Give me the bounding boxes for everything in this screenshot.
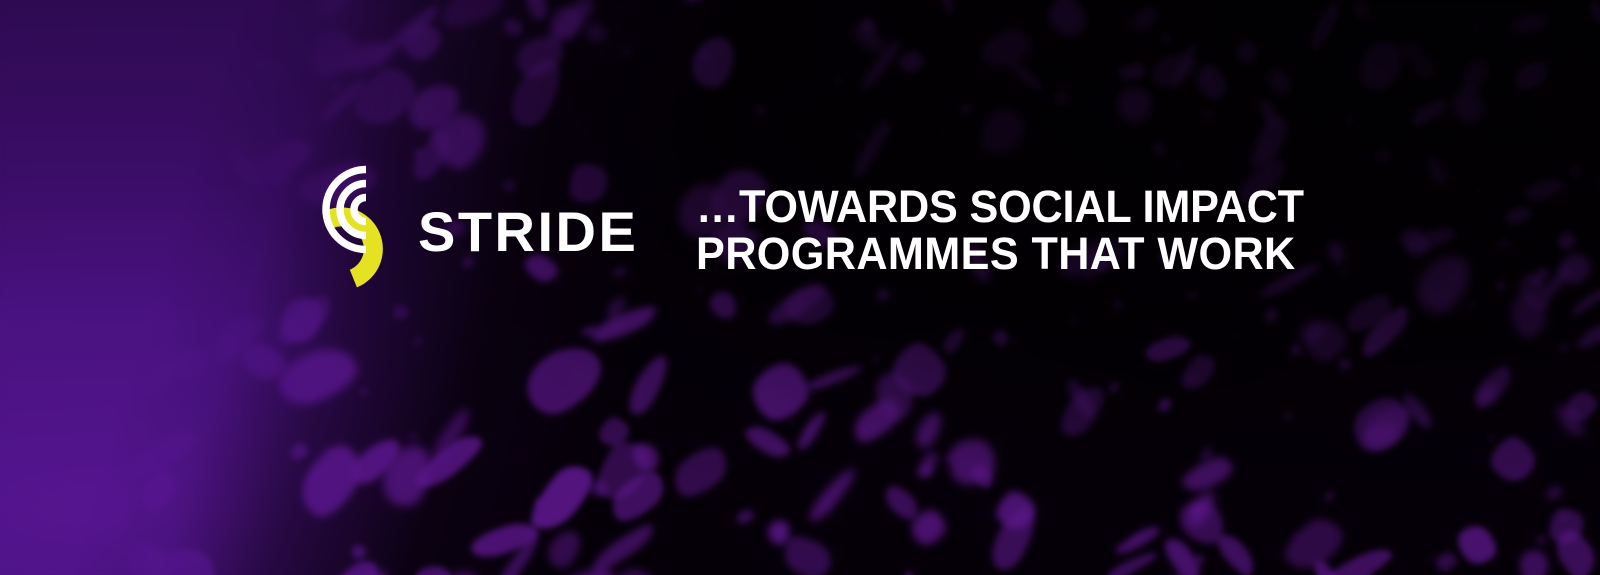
tagline-line-1: …TOWARDS SOCIAL IMPACT [696,184,1304,231]
banner-tagline: …TOWARDS SOCIAL IMPACT PROGRAMMES THAT W… [696,184,1304,278]
brand-wordmark: STRIDE [418,204,638,260]
stride-banner: STRIDE …TOWARDS SOCIAL IMPACT PROGRAMMES… [0,0,1600,575]
banner-content: STRIDE …TOWARDS SOCIAL IMPACT PROGRAMMES… [300,160,1329,298]
stride-arcs-crescent-logo-icon [300,160,392,298]
tagline-line-2: PROGRAMMES THAT WORK [696,231,1304,278]
brand-lockup: STRIDE [300,160,638,298]
